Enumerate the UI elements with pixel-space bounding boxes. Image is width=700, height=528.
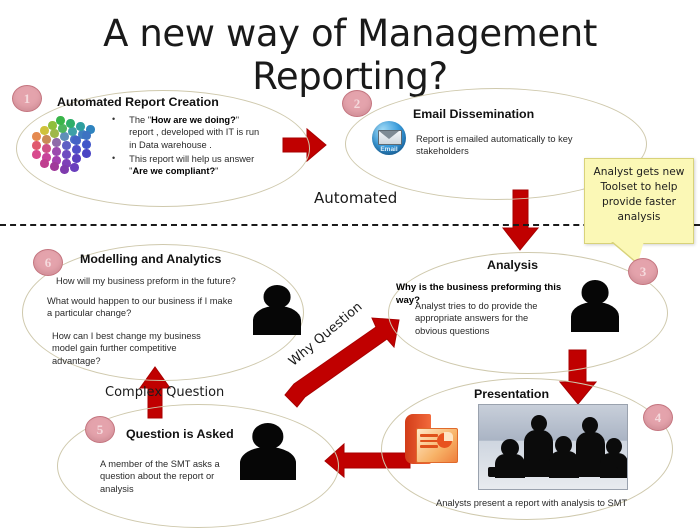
bullet-marker: • <box>112 114 115 151</box>
step-6-question-1: How will my business preform in the futu… <box>56 275 271 287</box>
email-icon-label: Email <box>372 146 406 153</box>
email-icon: Email <box>372 121 406 155</box>
step-3-body: Analyst tries to do provide the appropri… <box>415 300 560 337</box>
step-6-title: Modelling and Analytics <box>80 252 221 266</box>
person-silhouette-icon-step-5 <box>240 423 296 480</box>
step-2-title: Email Dissemination <box>413 107 534 121</box>
step-1-bullet-1: The "How are we doing?" report , develop… <box>129 114 262 151</box>
envelope-glyph <box>378 130 402 145</box>
meeting-silhouette-photo <box>478 404 628 490</box>
silhouette-body <box>253 306 301 335</box>
badge-step-4: 4 <box>643 404 673 431</box>
photo-table <box>488 467 618 477</box>
person-silhouette-icon-step-6 <box>253 285 301 335</box>
silhouette-head <box>252 423 283 449</box>
step-3-title: Analysis <box>487 258 538 272</box>
badge-step-5: 5 <box>85 416 115 443</box>
step-6-question-3: How can I best change my business model … <box>52 330 227 367</box>
ppt-lines <box>420 434 438 451</box>
step-4-body: Analysts present a report with analysis … <box>436 497 646 509</box>
badge-step-3: 3 <box>628 258 658 285</box>
step-5-title: Question is Asked <box>126 427 234 441</box>
step-6-question-2: What would happen to our business if I m… <box>47 295 237 320</box>
step-1-bullets: •The "How are we doing?" report , develo… <box>112 114 262 179</box>
step-5-body: A member of the SMT asks a question abou… <box>100 458 235 495</box>
slide-canvas: A new way of Management Reporting? 1 Aut… <box>0 0 700 525</box>
badge-step-2: 2 <box>342 90 372 117</box>
silhouette-body <box>571 302 619 332</box>
ppt-pie-glyph <box>437 433 452 448</box>
silhouette-head <box>582 280 609 304</box>
step-2-body: Report is emailed automatically to key s… <box>416 133 606 158</box>
silhouette-body <box>240 447 296 480</box>
rainbow-cube-icon <box>26 122 98 192</box>
page-title: A new way of Management Reporting? <box>0 12 700 98</box>
complex-question-label: Complex Question <box>105 385 224 400</box>
step-1-bullet-2: This report will help us answer "Are we … <box>129 153 262 178</box>
automated-label: Automated <box>314 189 397 207</box>
silhouette-head <box>264 285 291 308</box>
bullet-marker: • <box>112 153 115 178</box>
step-1-title: Automated Report Creation <box>57 95 219 109</box>
badge-step-6: 6 <box>33 249 63 276</box>
powerpoint-icon <box>405 412 457 466</box>
analyst-toolset-note: Analyst gets new Toolset to help provide… <box>584 158 694 244</box>
step-4-title: Presentation <box>474 387 549 401</box>
badge-step-1: 1 <box>12 85 42 112</box>
person-silhouette-icon-step-3 <box>571 280 619 332</box>
